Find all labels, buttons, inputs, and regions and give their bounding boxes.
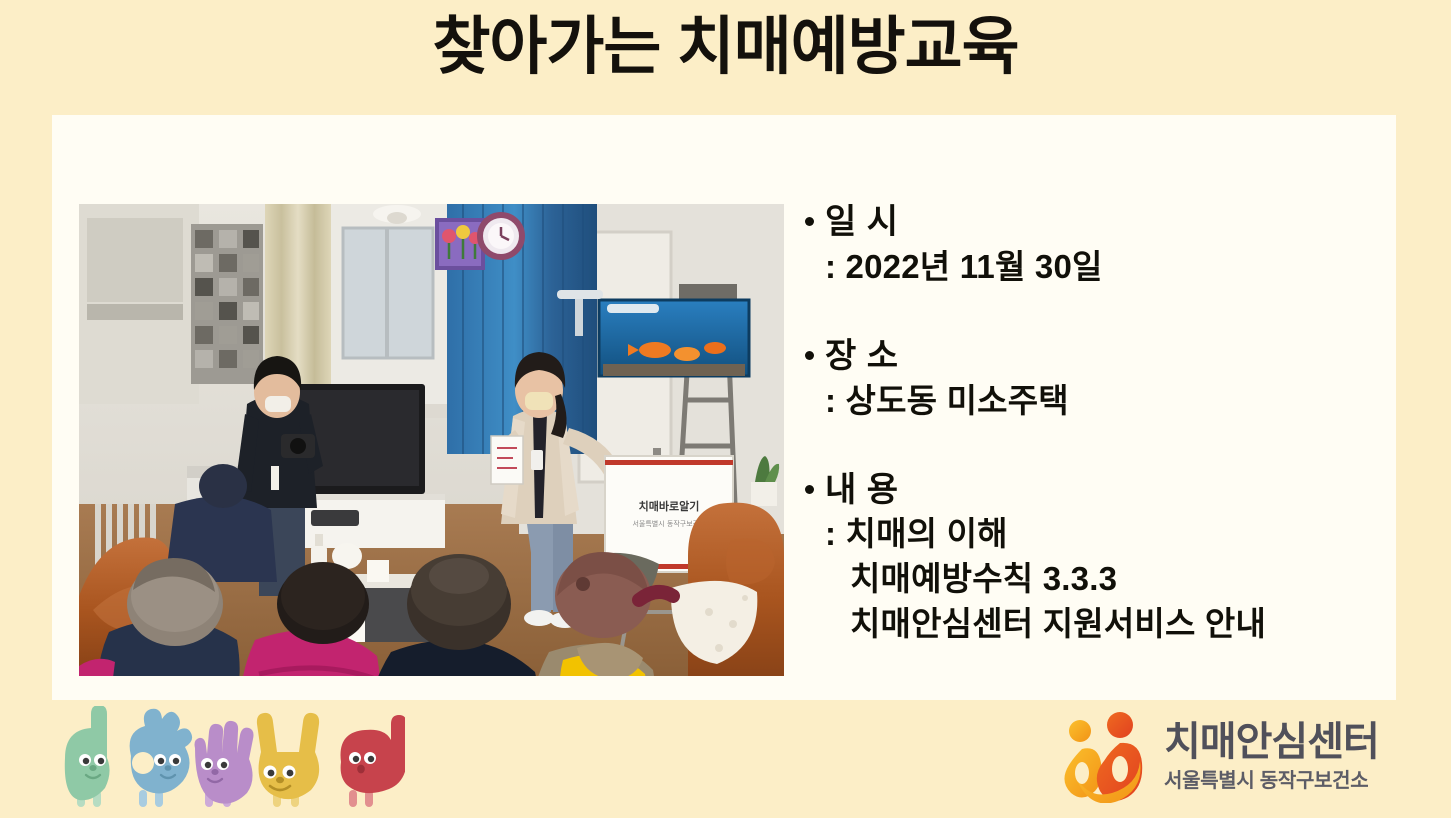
- purple-open-palm-mascot: [195, 721, 254, 807]
- detail-value-content: : 치매의 이해: [805, 512, 1370, 557]
- detail-label-place: 장 소: [805, 334, 1370, 379]
- detail-group-content: 내 용 : 치매의 이해 치매예방수칙 3.3.3 치매안심센터 지원서비스 안…: [805, 468, 1370, 648]
- education-session-photo: 치매바로알기 서울특별시 동작구보건소: [79, 204, 784, 676]
- detail-label-text: 장 소: [825, 334, 899, 379]
- detail-value-content-extra-1: 치매예방수칙 3.3.3: [805, 557, 1370, 602]
- detail-value-place: : 상도동 미소주택: [805, 379, 1370, 424]
- event-details: 일 시 : 2022년 11월 30일 장 소 : 상도동 미소주택 내 용 :…: [805, 200, 1370, 647]
- detail-label-content: 내 용: [805, 468, 1370, 513]
- logo-subtitle: 서울특별시 동작구보건소: [1164, 769, 1379, 793]
- green-pointing-hand-mascot: [65, 706, 110, 807]
- red-thumbs-up-mascot: [341, 715, 406, 807]
- blue-ok-hand-mascot: [130, 709, 193, 807]
- detail-label-text: 내 용: [825, 468, 899, 513]
- content-card: 치매바로알기 서울특별시 동작구보건소: [52, 115, 1396, 700]
- bullet-icon: [805, 485, 814, 494]
- detail-label-text: 일 시: [825, 200, 899, 245]
- dementia-center-symbol-icon: [1058, 711, 1154, 803]
- logo-title: 치매안심센터: [1164, 721, 1379, 764]
- detail-group-place: 장 소 : 상도동 미소주택: [805, 334, 1370, 424]
- logo-text-block: 치매안심센터 서울특별시 동작구보건소: [1164, 721, 1379, 793]
- page-title: 찾아가는 치매예방교육: [0, 8, 1451, 87]
- detail-value-content-extra-2: 치매안심센터 지원서비스 안내: [805, 602, 1370, 647]
- bullet-icon: [805, 351, 814, 360]
- bullet-icon: [805, 217, 814, 226]
- svg-text:치매바로알기: 치매바로알기: [639, 499, 700, 513]
- organization-logo: 치매안심센터 서울특별시 동작구보건소: [1058, 707, 1398, 807]
- detail-group-date: 일 시 : 2022년 11월 30일: [805, 200, 1370, 290]
- presentation-slide: 찾아가는 치매예방교육: [0, 0, 1451, 818]
- yellow-rock-hand-mascot: [257, 713, 319, 807]
- detail-value-date: : 2022년 11월 30일: [805, 245, 1370, 290]
- detail-label-date: 일 시: [805, 200, 1370, 245]
- hand-mascot-row: [55, 706, 405, 811]
